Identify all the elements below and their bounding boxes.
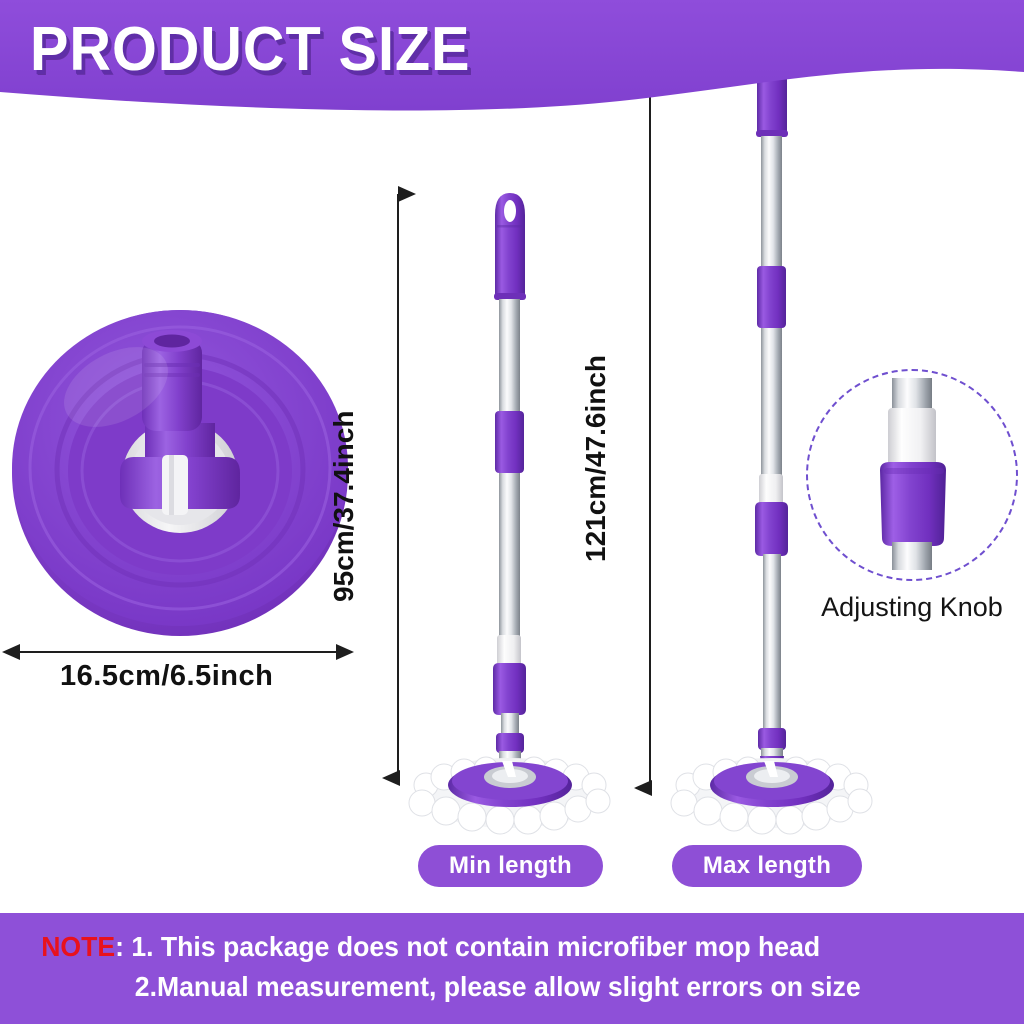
note-band: NOTE: 1. This package does not contain m… [0, 913, 1024, 1024]
mop-disc-top-view [8, 305, 353, 645]
microfiber-mop-head [671, 757, 872, 834]
badge-min-length[interactable]: Min length [418, 845, 603, 887]
adjusting-knob-label: Adjusting Knob [800, 592, 1024, 623]
max-length-label: 121cm/47.6inch [580, 355, 612, 562]
page-title: PRODUCT SIZE [30, 14, 470, 85]
min-length-arrow [388, 186, 408, 786]
note-line-2: 2.Manual measurement, please allow sligh… [28, 971, 1024, 1003]
badge-max-length[interactable]: Max length [672, 845, 862, 887]
note-line-1-text: : 1. This package does not contain micro… [115, 931, 820, 962]
min-length-label: 95cm/37.4inch [328, 411, 360, 602]
disc-width-label: 16.5cm/6.5inch [60, 660, 273, 693]
note-keyword: NOTE [41, 931, 115, 962]
microfiber-mop-head [409, 757, 610, 834]
max-length-arrow [640, 26, 660, 796]
product-size-infographic: PRODUCT SIZE [0, 0, 1024, 1024]
adjusting-knob-zoom-illustration [862, 378, 962, 570]
header-banner: PRODUCT SIZE [0, 0, 1024, 130]
note-line-1: NOTE: 1. This package does not contain m… [26, 931, 1014, 963]
